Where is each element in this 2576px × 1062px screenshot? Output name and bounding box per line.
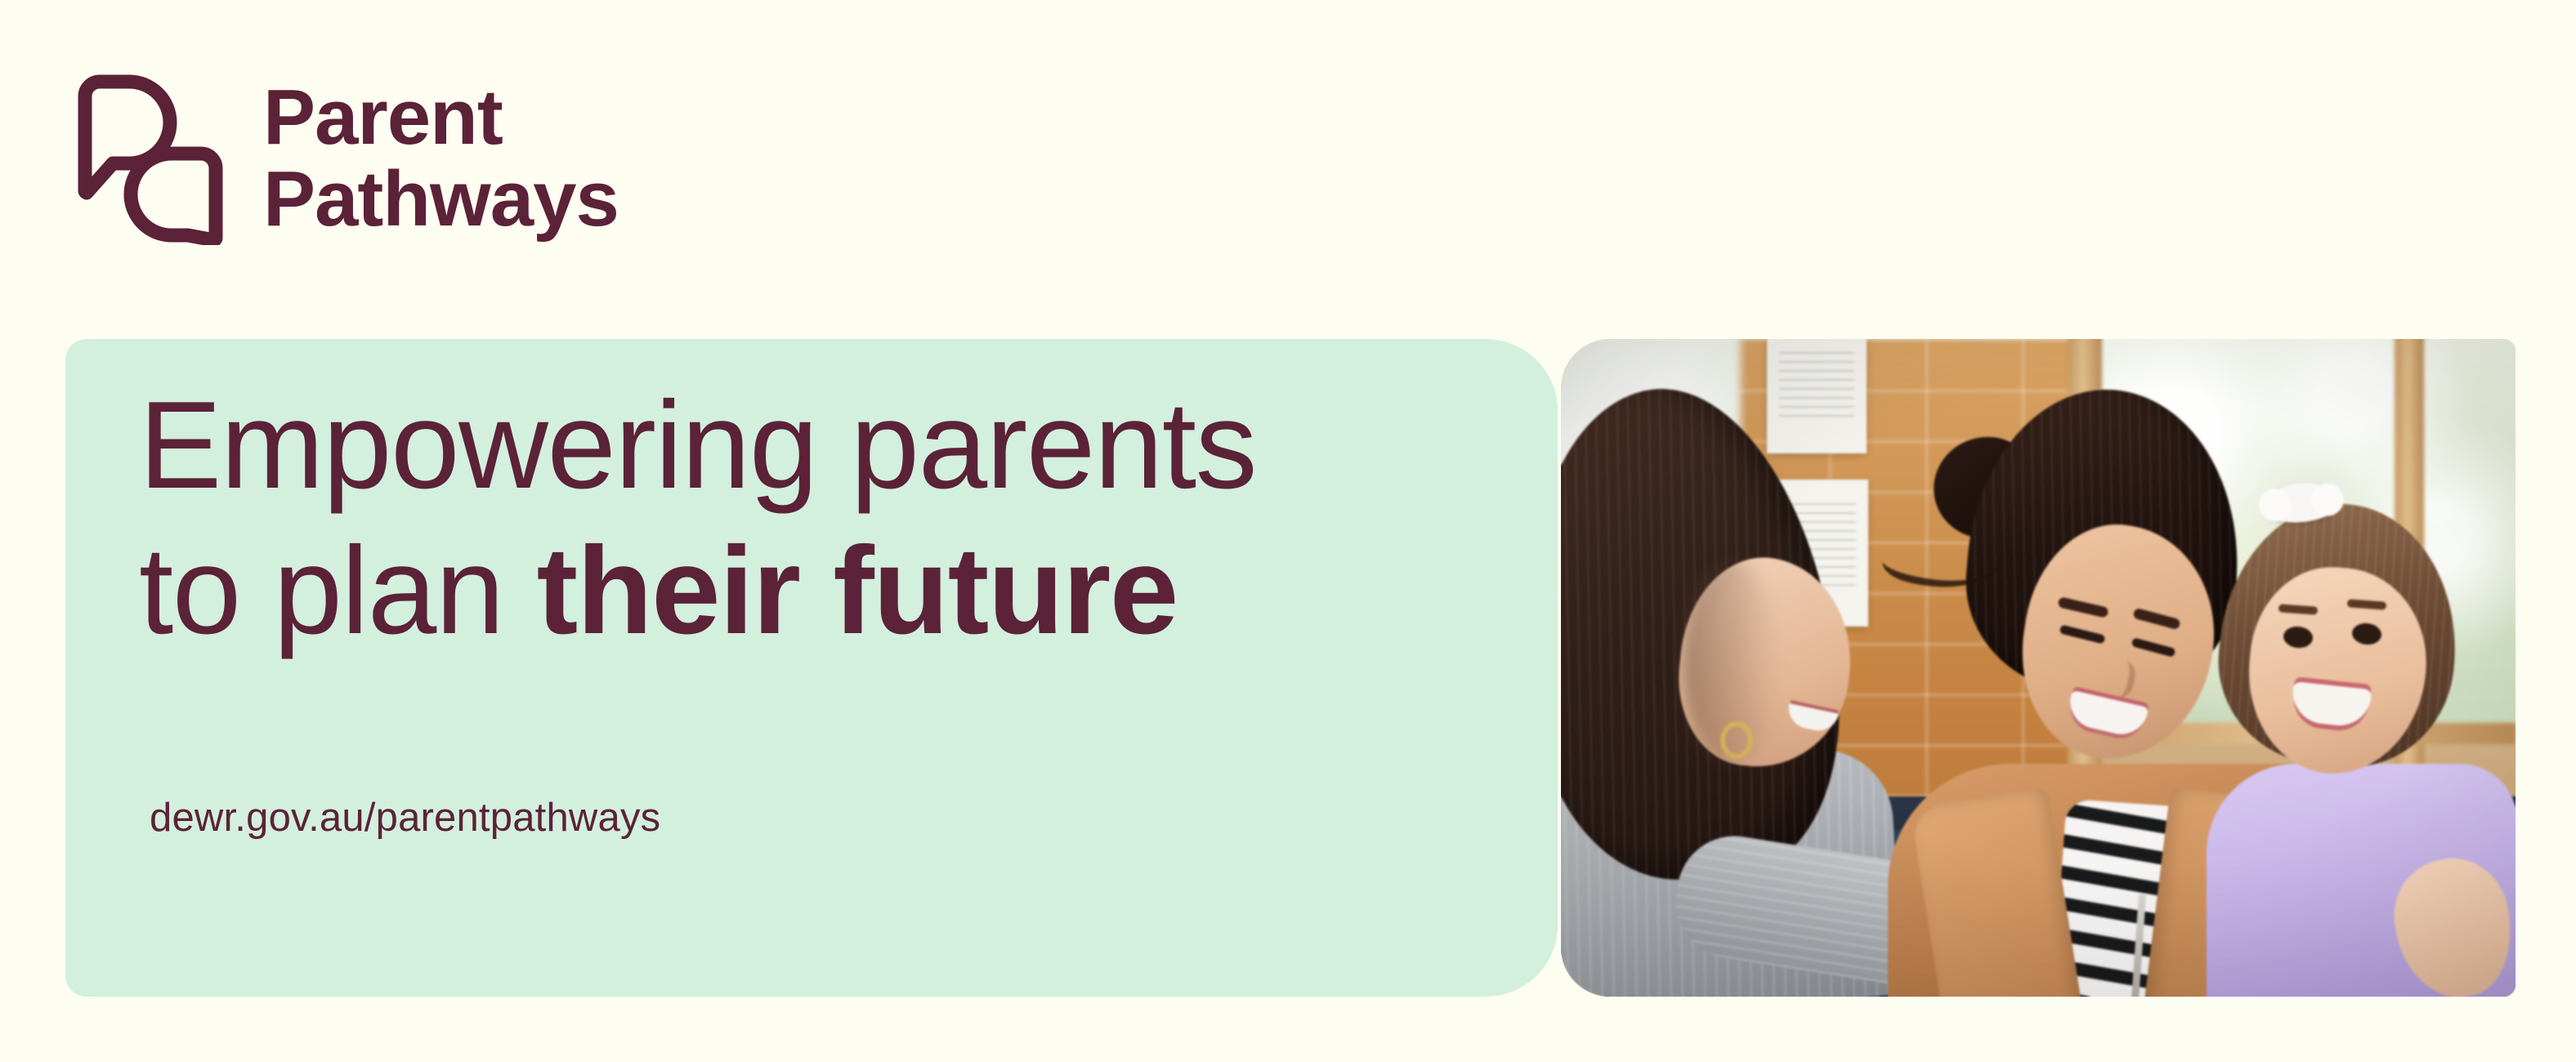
brand-wordmark: Parent Pathways [263,77,619,240]
page-headline: Empowering parents to plan their future [139,373,1256,664]
headline-line-2-regular: to plan [139,521,537,660]
wordmark-line-2: Pathways [263,155,619,243]
parent-pathways-banner: Parent Pathways Empowering parents to pl… [0,0,2576,1062]
headline-line-2-bold: their future [537,521,1178,660]
woman-grey-earring [1720,721,1753,759]
headline-panel: Empowering parents to plan their future … [65,339,1558,997]
pinned-paper-top [1767,339,1867,453]
hero-photo [1561,339,2516,997]
brand-logo[interactable]: Parent Pathways [69,72,619,245]
headline-line-1: Empowering parents [139,376,1256,515]
double-speech-bubble-icon [69,72,232,245]
wordmark-line-1: Parent [263,74,503,161]
photo-scene [1561,339,2516,997]
website-url[interactable]: dewr.gov.au/parentpathways [150,798,660,838]
